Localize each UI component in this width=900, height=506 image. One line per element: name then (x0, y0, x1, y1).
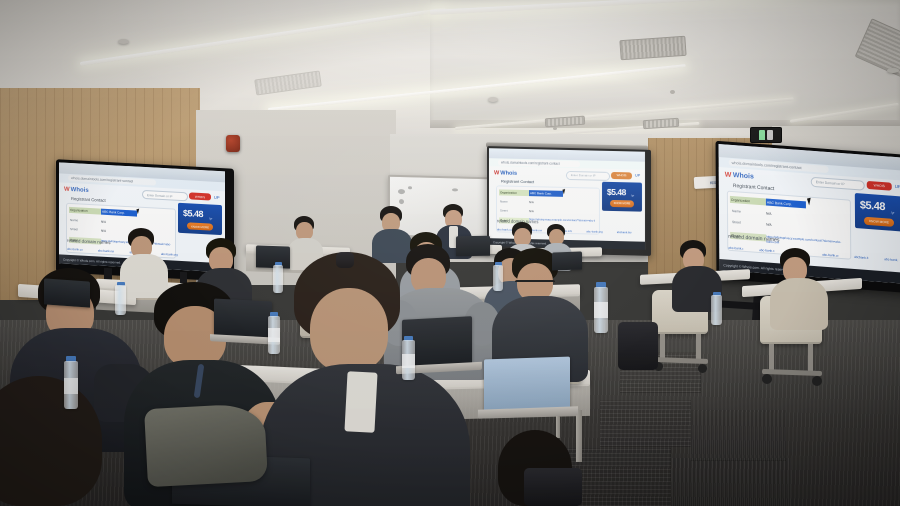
backpack[interactable] (336, 252, 354, 268)
account-label[interactable]: UP (214, 195, 220, 200)
promo-cta-button[interactable]: KNOW MORE (187, 222, 213, 230)
carpet-tile (672, 458, 791, 506)
promo-ad-banner[interactable]: $5.48 /yr KNOW MORE (855, 193, 900, 232)
eyeglasses-icon (515, 280, 555, 288)
footer-text: Copyright © Whois.com. All rights reserv… (59, 257, 121, 264)
field-value-street: N/A (766, 222, 772, 226)
promo-unit: /yr (209, 216, 212, 220)
domain-search-placeholder: Enter Domain or IP (567, 173, 596, 178)
promo-unit: /yr (631, 193, 634, 197)
related-domain-link[interactable]: abc-bank.co (497, 227, 512, 231)
field-value-name: N/A (101, 220, 106, 224)
account-label[interactable]: UP (895, 184, 900, 189)
field-label-name: Name (500, 199, 508, 203)
whois-logo-text: Whois (500, 170, 517, 176)
exit-door-icon (767, 130, 773, 140)
mouse-cursor-icon (136, 208, 142, 214)
draped-jacket (144, 403, 268, 487)
whois-search-button[interactable]: WHOIS (867, 181, 892, 191)
promo-price: $5.48 (183, 208, 203, 219)
promo-ad-banner[interactable]: $5.48 /yr KNOW MORE (178, 203, 222, 235)
url-bar[interactable]: whois.domaintools.com/registrant-contact (498, 159, 580, 166)
mouse-cursor-icon (807, 197, 815, 205)
domain-search-input[interactable]: Enter Domain or IP (811, 177, 865, 191)
related-domain-link[interactable]: abc-bank.io (884, 257, 898, 262)
carpet-tile (600, 400, 691, 447)
whois-logo-mark: W (64, 186, 70, 192)
photo-scene: KISA whois.do (0, 0, 900, 506)
field-label-street: Street (500, 208, 508, 212)
whois-logo-text: Whois (733, 172, 754, 181)
promo-cta-button[interactable]: KNOW MORE (610, 200, 634, 207)
field-label-organization: Organization (69, 207, 101, 215)
promo-cta-button[interactable]: KNOW MORE (864, 217, 894, 227)
related-domain-link[interactable]: abc-bank.co (67, 247, 83, 252)
sprinkler-head (670, 90, 675, 94)
field-label-street: Street (732, 220, 741, 225)
promo-price: $5.48 (607, 187, 626, 197)
promo-unit: /yr (891, 211, 895, 215)
registrant-contact-title: Registrant Contact (501, 178, 534, 184)
browser-tabs[interactable] (489, 153, 645, 157)
field-label-organization: Organization (499, 189, 529, 196)
whois-logo-mark: W (494, 170, 499, 176)
promo-ad-banner[interactable]: $5.48 /yr KNOW MORE (602, 182, 642, 212)
mouse-cursor-icon (562, 188, 568, 194)
related-domain-link[interactable]: abc-bank.org (586, 229, 602, 233)
field-value-organization[interactable]: ABC Bank Corp. (766, 198, 806, 208)
whois-search-button[interactable]: WHOIS (189, 192, 211, 200)
related-domain-link[interactable]: abc-bank.net (98, 248, 115, 253)
domain-search-placeholder: Enter Domain or IP (812, 180, 845, 186)
smoke-detector (488, 97, 498, 102)
desk-leg (576, 410, 582, 462)
related-domain-link[interactable]: abc-bank.org (161, 252, 178, 257)
url-text: whois.domaintools.com/registrant-contact (498, 160, 560, 165)
fire-alarm-icon (226, 135, 240, 152)
projector-screen-center[interactable]: whois.domaintools.com/registrant-contact… (487, 146, 651, 256)
field-value-name: N/A (529, 200, 534, 204)
whois-logo-text: Whois (71, 186, 89, 193)
field-label-name: Name (732, 209, 741, 214)
domain-search-input[interactable]: Enter Domain or IP (566, 171, 610, 180)
field-value-street: N/A (529, 209, 534, 213)
field-label-organization: Organization (730, 196, 766, 206)
carpet-tile (690, 410, 787, 461)
backpack[interactable] (618, 322, 658, 370)
exit-sign-icon (750, 127, 782, 143)
smoke-detector (887, 68, 899, 73)
related-domain-link[interactable]: abcbank.biz (854, 255, 868, 260)
account-label[interactable]: UP (635, 173, 640, 177)
backpack[interactable] (524, 468, 582, 506)
field-value-organization[interactable]: ABC Bank Corp. (529, 190, 563, 197)
url-text: whois.domaintools.com/registrant-contact (68, 176, 133, 184)
exit-figure-icon (759, 130, 765, 140)
field-value-name: N/A (766, 211, 772, 215)
registrant-contact-title: Registrant Contact (71, 196, 106, 203)
domain-search-input[interactable]: Enter Domain or IP (142, 190, 188, 201)
field-label-street: Street (70, 227, 78, 231)
related-domain-link[interactable]: abcbank.biz (617, 230, 632, 234)
whois-logo-mark: W (725, 171, 732, 178)
domain-search-placeholder: Enter Domain or IP (143, 192, 173, 198)
field-value-email[interactable]: https://whoisprivacy.example.com/contact… (529, 218, 595, 222)
whois-search-button[interactable]: WHOIS (611, 172, 632, 179)
promo-price: $5.48 (860, 199, 885, 213)
smoke-detector (118, 39, 129, 44)
sprinkler-head (553, 127, 557, 130)
field-label-name: Name (70, 218, 78, 222)
field-value-street: N/A (101, 229, 106, 233)
field-value-organization[interactable]: ABC Bank Corp. (101, 209, 137, 217)
